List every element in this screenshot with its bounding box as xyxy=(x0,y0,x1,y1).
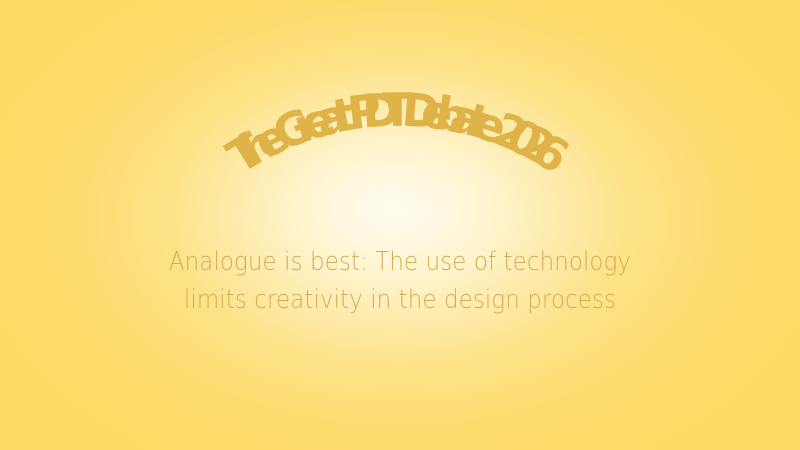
title-slide: The Great PDT Debate 2026 Analogue is be… xyxy=(0,0,800,450)
subtitle-line: Analogue is best: The use of technology xyxy=(40,243,760,281)
subtitle-block: Analogue is best: The use of technology … xyxy=(0,243,800,319)
page-title-arc: The Great PDT Debate 2026 xyxy=(0,0,800,250)
subtitle-line: limits creativity in the design process xyxy=(40,281,760,319)
